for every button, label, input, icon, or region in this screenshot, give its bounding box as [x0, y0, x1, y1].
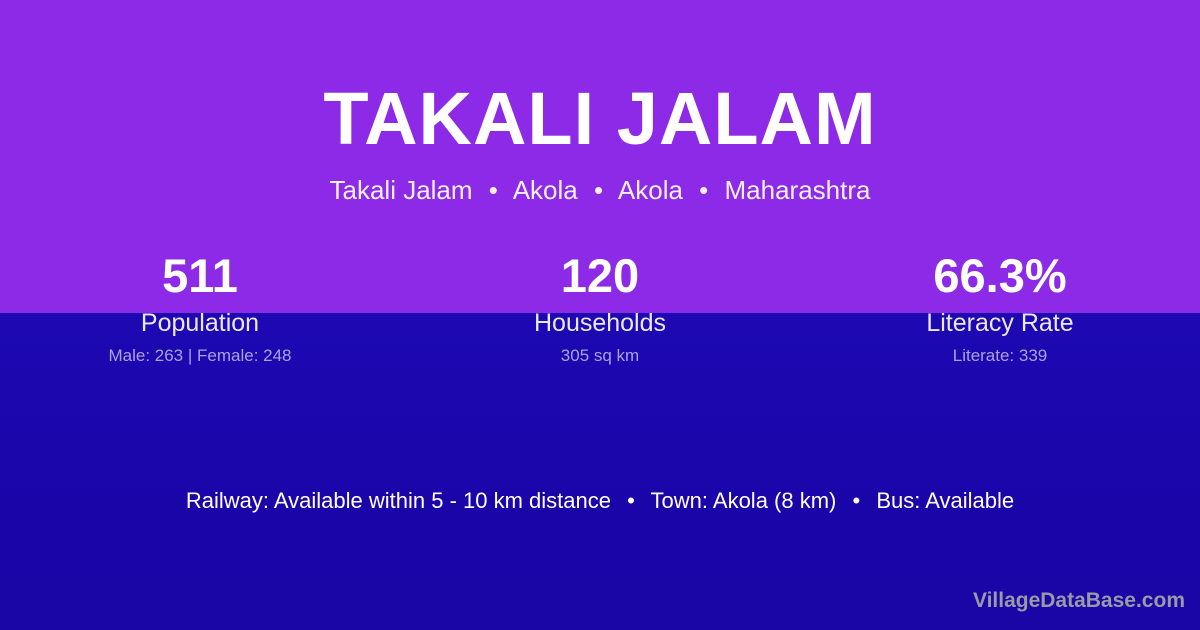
- page-title: TAKALI JALAM: [0, 0, 1200, 156]
- stat-population-value: 511: [0, 248, 400, 304]
- breadcrumb-village: Takali Jalam: [330, 175, 473, 205]
- stat-households-detail: 305 sq km: [400, 346, 800, 366]
- amenity-town: Town: Akola (8 km): [651, 488, 837, 513]
- stat-literacy-rate: 66.3% Literacy Rate Literate: 339: [800, 248, 1200, 366]
- stat-households-label: Households: [400, 309, 800, 337]
- amenities-info-line: Railway: Available within 5 - 10 km dist…: [0, 487, 1200, 515]
- stat-households-value: 120: [400, 248, 800, 304]
- amenity-separator-icon: •: [617, 487, 645, 515]
- amenity-bus: Bus: Available: [876, 488, 1014, 513]
- stat-households: 120 Households 305 sq km: [400, 248, 800, 366]
- card-header: TAKALI JALAM Takali Jalam • Akola • Akol…: [0, 0, 1200, 203]
- breadcrumb-separator-icon: •: [585, 177, 612, 203]
- stat-population-detail: Male: 263 | Female: 248: [0, 346, 400, 366]
- stats-row: 511 Population Male: 263 | Female: 248 1…: [0, 248, 1200, 366]
- village-info-card: TAKALI JALAM Takali Jalam • Akola • Akol…: [0, 0, 1200, 630]
- site-watermark: VillageDataBase.com: [973, 588, 1185, 614]
- stat-literacy-rate-detail: Literate: 339: [800, 346, 1200, 366]
- breadcrumb-separator-icon: •: [690, 177, 717, 203]
- amenity-railway: Railway: Available within 5 - 10 km dist…: [186, 488, 611, 513]
- stat-literacy-rate-value: 66.3%: [800, 248, 1200, 304]
- breadcrumb-state: Maharashtra: [725, 175, 871, 205]
- amenity-separator-icon: •: [843, 487, 871, 515]
- breadcrumb-separator-icon: •: [480, 177, 507, 203]
- breadcrumb: Takali Jalam • Akola • Akola • Maharasht…: [0, 156, 1200, 203]
- breadcrumb-district: Akola: [618, 175, 683, 205]
- stat-population: 511 Population Male: 263 | Female: 248: [0, 248, 400, 366]
- stat-literacy-rate-label: Literacy Rate: [800, 309, 1200, 337]
- breadcrumb-block: Akola: [513, 175, 578, 205]
- stat-population-label: Population: [0, 309, 400, 337]
